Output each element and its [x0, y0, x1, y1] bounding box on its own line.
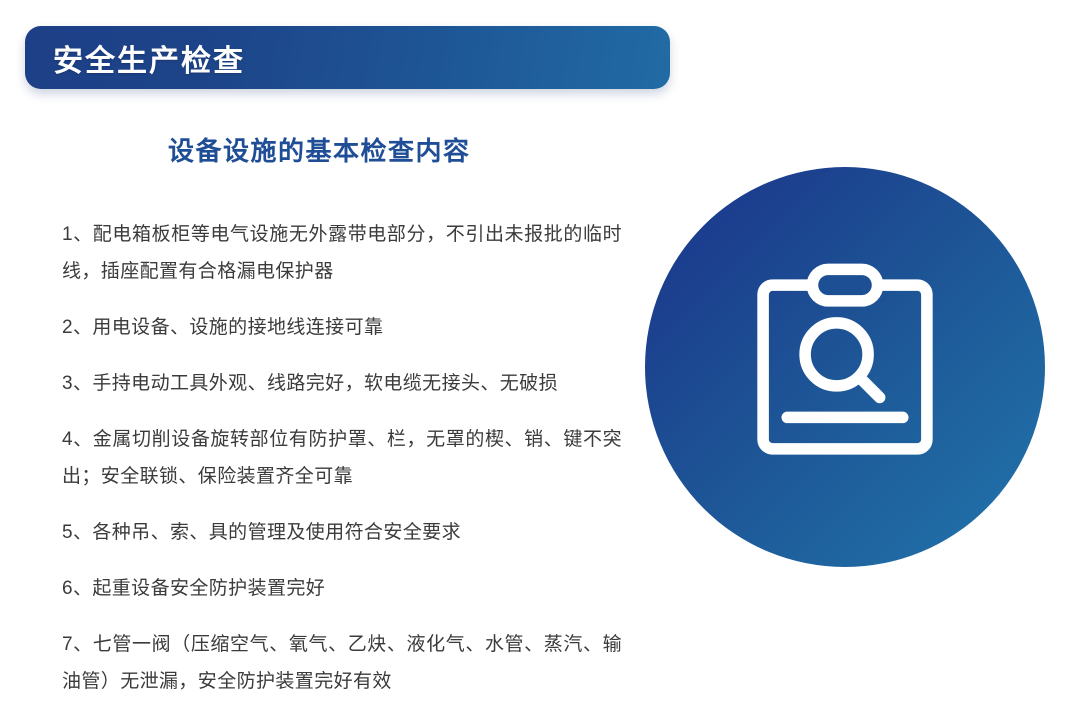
illustration-circle [645, 167, 1045, 567]
list-item: 6、起重设备安全防护装置完好 [62, 570, 622, 607]
list-item: 5、各种吊、索、具的管理及使用符合安全要求 [62, 514, 622, 551]
clipboard-search-icon [740, 262, 950, 472]
checklist: 1、配电箱板柜等电气设施无外露带电部分，不引出未报批的临时线，插座配置有合格漏电… [62, 197, 622, 719]
list-item: 2、用电设备、设施的接地线连接可靠 [62, 309, 622, 346]
slide-canvas: 安全生产检查 设备设施的基本检查内容 1、配电箱板柜等电气设施无外露带电部分，不… [0, 0, 1080, 608]
list-item: 4、金属切削设备旋转部位有防护罩、栏，无罩的楔、销、键不突出；安全联锁、保险装置… [62, 421, 622, 495]
page-title: 安全生产检查 [53, 36, 245, 80]
section-subtitle: 设备设施的基本检查内容 [168, 131, 471, 168]
list-item: 3、手持电动工具外观、线路完好，软电缆无接头、无破损 [62, 365, 622, 402]
list-item: 1、配电箱板柜等电气设施无外露带电部分，不引出未报批的临时线，插座配置有合格漏电… [62, 216, 622, 290]
list-item: 7、七管一阀（压缩空气、氧气、乙炔、液化气、水管、蒸汽、输油管）无泄漏，安全防护… [62, 626, 622, 700]
header-banner: 安全生产检查 [25, 26, 670, 89]
